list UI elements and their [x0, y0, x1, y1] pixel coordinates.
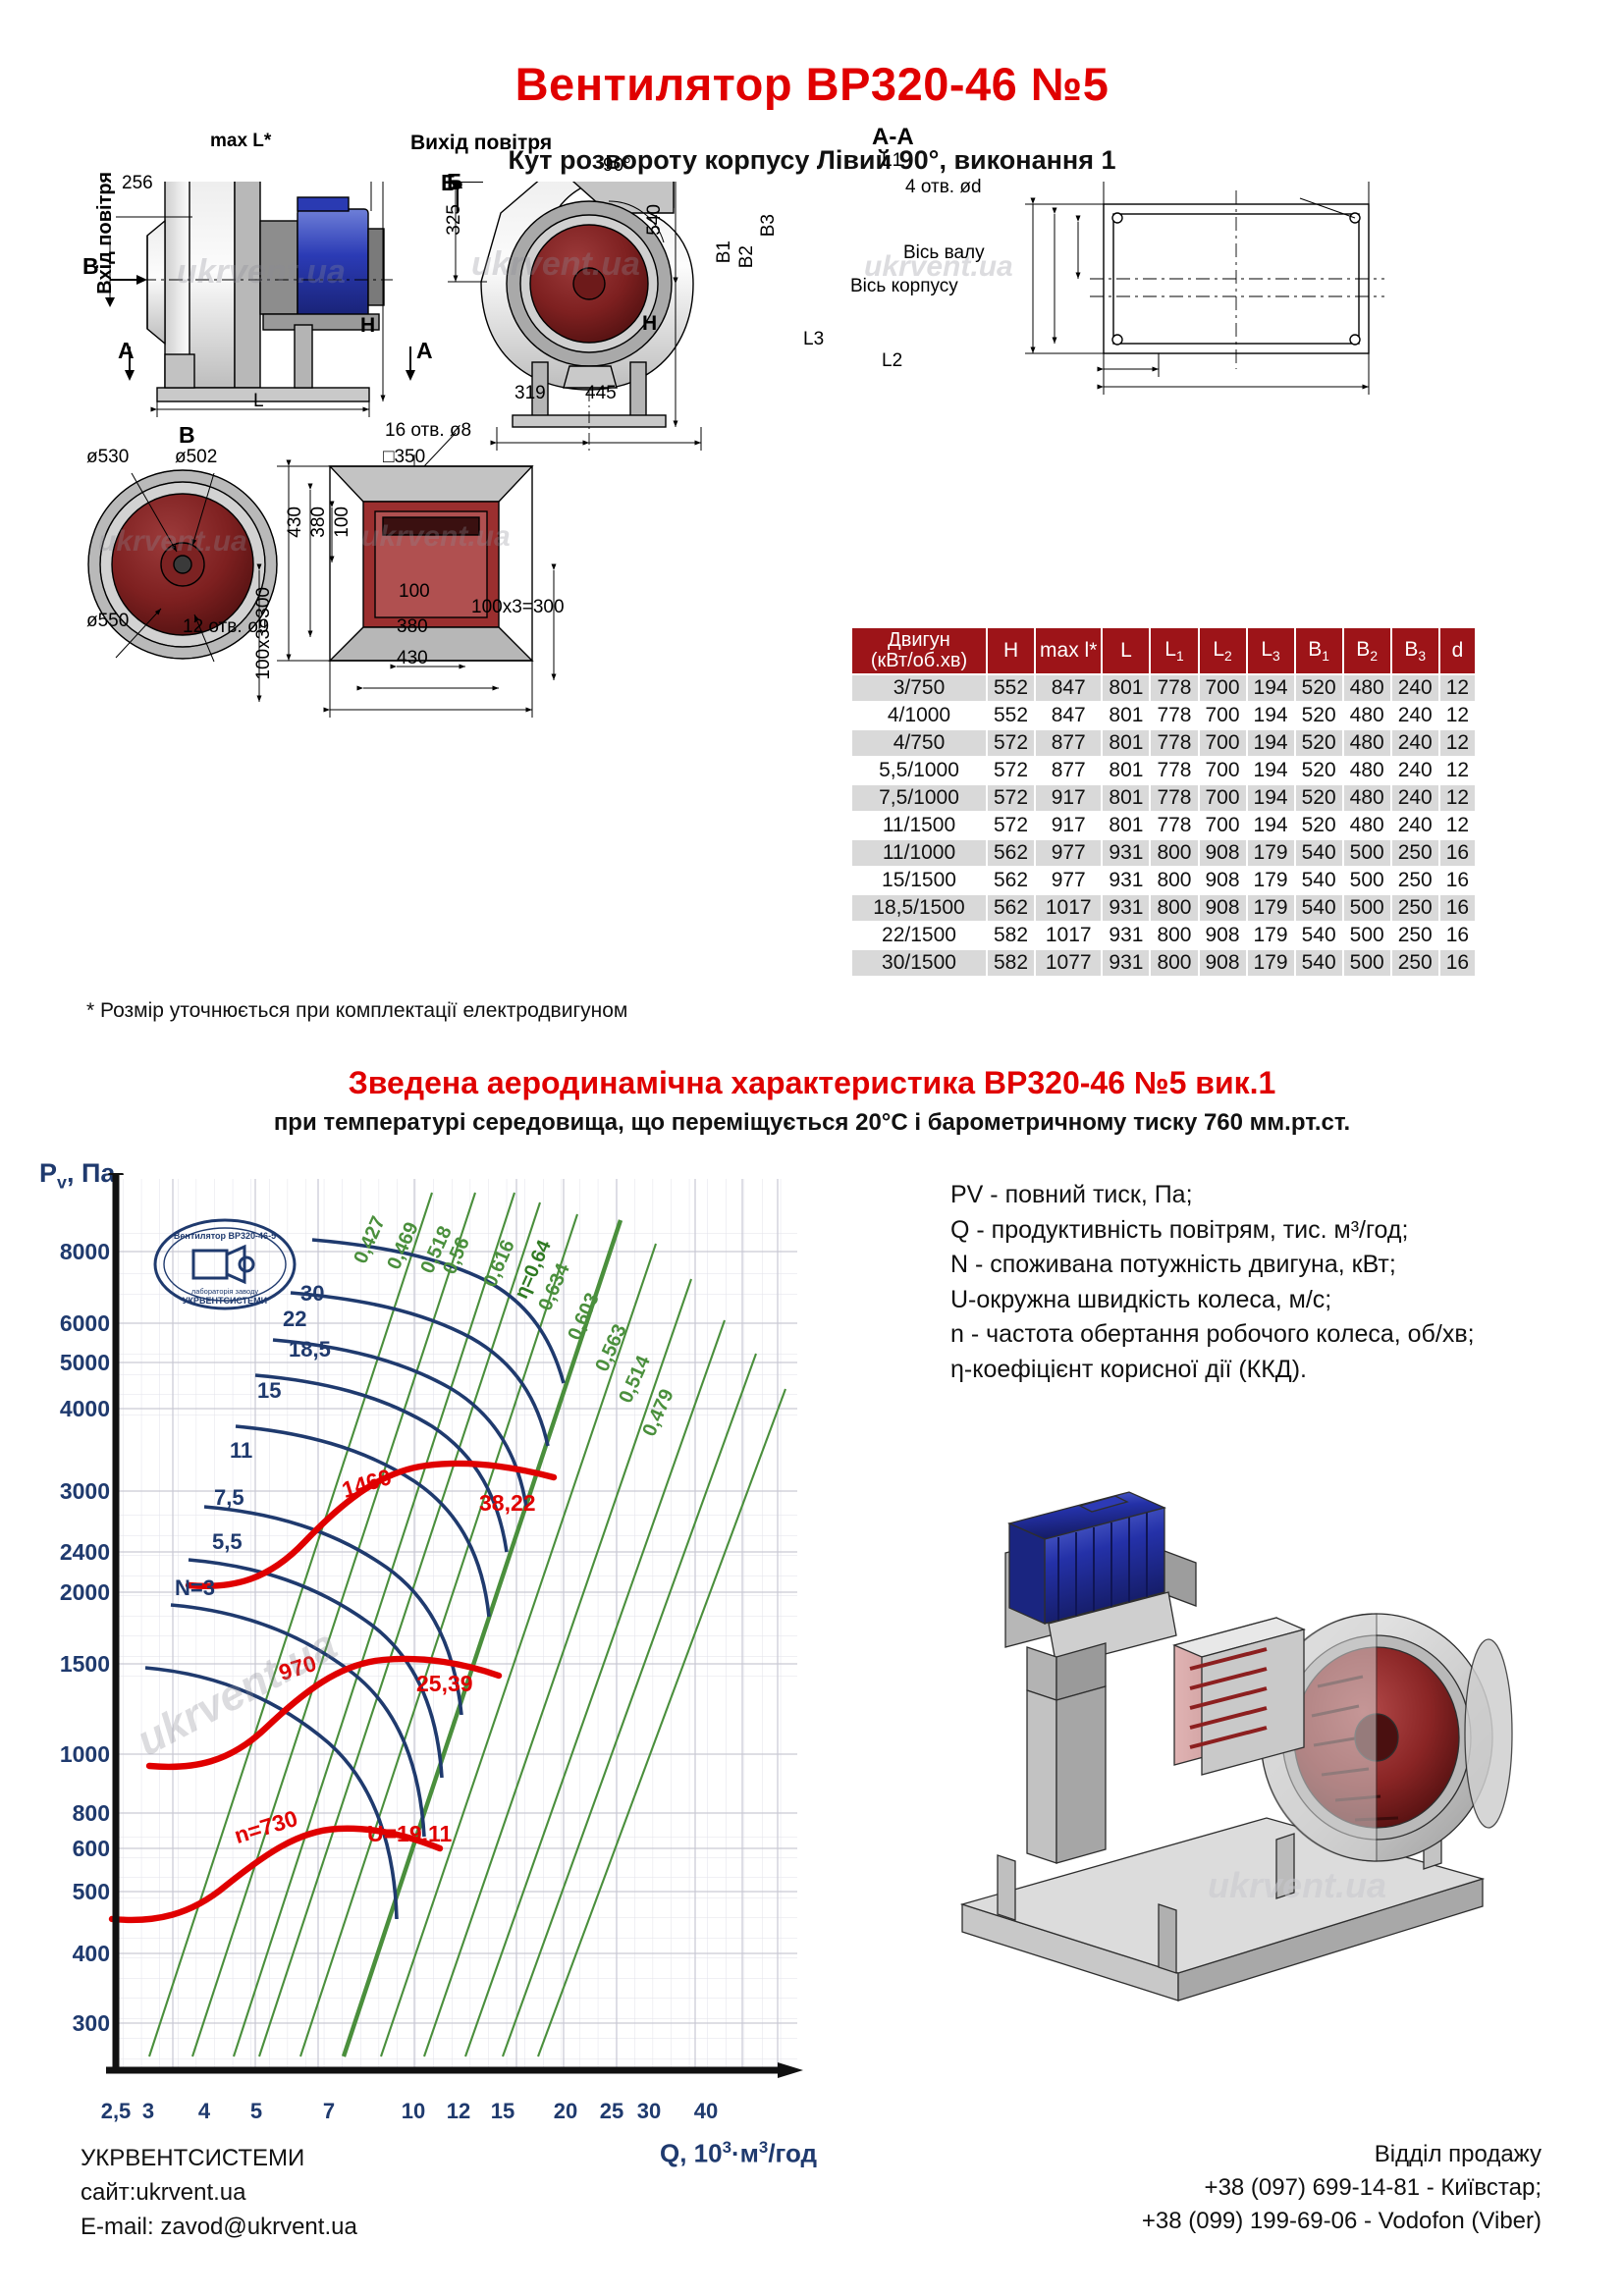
cell-value: 778 — [1150, 812, 1198, 839]
cell-value: 800 — [1150, 839, 1198, 867]
cell-motor: 4/750 — [851, 729, 987, 757]
dim-100-v: 100 — [332, 507, 353, 538]
ytick-600: 600 — [16, 1836, 110, 1862]
cell-value: 800 — [1150, 922, 1198, 949]
cell-value: 12 — [1439, 702, 1476, 729]
cell-value: 908 — [1199, 922, 1247, 949]
dim-angle-90: 90° — [603, 155, 631, 177]
power-label-11: 15 — [257, 1378, 281, 1404]
legend-line-u: U-окружна швидкість колеса, м/с; — [950, 1283, 1475, 1318]
power-label-4: 5,5 — [212, 1529, 243, 1555]
cell-value: 480 — [1343, 812, 1391, 839]
cell-value: 977 — [1035, 839, 1102, 867]
dim-l2: L2 — [882, 350, 902, 372]
sales-phone-2[interactable]: +38 (099) 199-69-06 - Vodofon (Viber) — [1142, 2205, 1542, 2238]
cell-value: 1077 — [1035, 949, 1102, 977]
aerodynamic-chart — [86, 1173, 813, 2115]
cell-motor: 3/750 — [851, 674, 987, 702]
th-d: d — [1439, 627, 1476, 674]
dim-100x3-right: 100х3=300 — [471, 597, 565, 618]
cell-value: 540 — [1295, 839, 1343, 867]
cell-value: 800 — [1150, 949, 1198, 977]
cell-value: 801 — [1102, 757, 1150, 784]
cell-value: 240 — [1391, 812, 1439, 839]
xtick-10: 10 — [389, 2099, 438, 2124]
cell-value: 520 — [1295, 674, 1343, 702]
cell-value: 931 — [1102, 949, 1150, 977]
power-label-22: 30 — [300, 1281, 324, 1307]
table-row: 11/150057291780177870019452048024012 — [851, 812, 1476, 839]
dim-380-v: 380 — [308, 507, 330, 538]
table-row: 5,5/100057287780177870019452048024012 — [851, 757, 1476, 784]
dim-max-l: max L* — [210, 131, 271, 152]
footer-company: УКРВЕНТСИСТЕМИ — [81, 2142, 357, 2176]
cell-value: 778 — [1150, 757, 1198, 784]
dim-540: 540 — [644, 204, 666, 236]
table-row: 4/100055284780177870019452048024012 — [851, 702, 1476, 729]
svg-text:Вентилятор ВР320-46-5: Вентилятор ВР320-46-5 — [174, 1231, 276, 1241]
ytick-2400: 2400 — [16, 1539, 110, 1566]
cell-value: 12 — [1439, 784, 1476, 812]
chart-title: Зведена аеродинамічна характеристика ВР3… — [0, 1065, 1624, 1101]
cell-value: 540 — [1295, 867, 1343, 894]
cell-value: 572 — [987, 729, 1035, 757]
cell-value: 16 — [1439, 839, 1476, 867]
th-l3: L3 — [1247, 627, 1295, 674]
cell-value: 520 — [1295, 757, 1343, 784]
cell-value: 908 — [1199, 867, 1247, 894]
th-b1: B1 — [1295, 627, 1343, 674]
label-air-outlet: Вихід повітря — [410, 132, 552, 155]
label-body-axis: Вісь корпусу — [850, 276, 958, 297]
dim-holes-16: 16 отв. ø8 — [385, 420, 471, 442]
cell-value: 800 — [1150, 894, 1198, 922]
ytick-6000: 6000 — [16, 1310, 110, 1337]
cell-value: 552 — [987, 674, 1035, 702]
cell-value: 908 — [1199, 839, 1247, 867]
cell-motor: 5,5/1000 — [851, 757, 987, 784]
ytick-8000: 8000 — [16, 1239, 110, 1265]
cell-value: 12 — [1439, 757, 1476, 784]
ytick-4000: 4000 — [16, 1396, 110, 1422]
cell-motor: 30/1500 — [851, 949, 987, 977]
power-label-75: 11 — [230, 1438, 252, 1464]
cell-value: 700 — [1199, 812, 1247, 839]
legend-line-rpm: n - частота обертання робочого колеса, о… — [950, 1317, 1475, 1353]
cell-value: 572 — [987, 757, 1035, 784]
cell-value: 480 — [1343, 674, 1391, 702]
ytick-5000: 5000 — [16, 1350, 110, 1376]
product-3d-render — [933, 1443, 1581, 2052]
u-label-1911: U=19,11 — [367, 1821, 452, 1847]
dim-d530: ø530 — [86, 447, 129, 468]
th-l: L — [1102, 627, 1150, 674]
cell-value: 179 — [1247, 894, 1295, 922]
cell-value: 572 — [987, 784, 1035, 812]
cell-value: 540 — [1295, 949, 1343, 977]
cell-value: 801 — [1102, 674, 1150, 702]
dim-h-front: H — [360, 314, 375, 338]
cell-value: 194 — [1247, 784, 1295, 812]
cell-value: 250 — [1391, 949, 1439, 977]
ytick-1500: 1500 — [16, 1651, 110, 1678]
legend-line-q: Q - продуктивність повітрям, тис. м³/год… — [950, 1213, 1475, 1249]
cell-motor: 4/1000 — [851, 702, 987, 729]
cell-value: 240 — [1391, 702, 1439, 729]
th-l1: L1 — [1150, 627, 1198, 674]
footer-site[interactable]: сайт:ukrvent.ua — [81, 2176, 357, 2211]
cell-value: 250 — [1391, 839, 1439, 867]
cell-value: 16 — [1439, 949, 1476, 977]
cell-value: 931 — [1102, 922, 1150, 949]
cell-value: 847 — [1035, 702, 1102, 729]
ytick-500: 500 — [16, 1879, 110, 1905]
table-row: 30/1500582107793180090817954050025016 — [851, 949, 1476, 977]
footer-left: УКРВЕНТСИСТЕМИ сайт:ukrvent.ua E-mail: z… — [81, 2142, 357, 2244]
legend-line-n: N - споживана потужність двигуна, кВт; — [950, 1248, 1475, 1283]
cell-value: 480 — [1343, 729, 1391, 757]
label-shaft-axis: Вісь валу — [903, 242, 985, 264]
ytick-300: 300 — [16, 2010, 110, 2037]
cell-value: 778 — [1150, 729, 1198, 757]
cell-value: 179 — [1247, 922, 1295, 949]
cell-value: 194 — [1247, 702, 1295, 729]
cell-value: 778 — [1150, 674, 1198, 702]
u-label-2539: 25,39 — [416, 1671, 473, 1697]
dim-445: 445 — [585, 383, 617, 404]
label-b-mark-side: Б — [441, 170, 458, 196]
label-a-right: A — [416, 338, 433, 364]
dim-b3: B3 — [758, 214, 780, 237]
cell-value: 194 — [1247, 812, 1295, 839]
ytick-800: 800 — [16, 1800, 110, 1827]
cell-value: 520 — [1295, 729, 1343, 757]
power-label-55: 7,5 — [214, 1485, 244, 1511]
cell-value: 240 — [1391, 784, 1439, 812]
cell-value: 540 — [1295, 894, 1343, 922]
cell-value: 250 — [1391, 922, 1439, 949]
cell-value: 582 — [987, 949, 1035, 977]
table-row: 22/1500582101793180090817954050025016 — [851, 922, 1476, 949]
cell-value: 847 — [1035, 674, 1102, 702]
cell-value: 572 — [987, 812, 1035, 839]
cell-value: 877 — [1035, 729, 1102, 757]
cell-value: 700 — [1199, 729, 1247, 757]
cell-value: 194 — [1247, 674, 1295, 702]
xtick-40: 40 — [681, 2099, 731, 2124]
cell-value: 12 — [1439, 729, 1476, 757]
cell-value: 16 — [1439, 922, 1476, 949]
svg-text:УКРВЕНТСИСТЕМИ: УКРВЕНТСИСТЕМИ — [183, 1296, 267, 1306]
cell-value: 801 — [1102, 812, 1150, 839]
laboratory-stamp: Вентилятор ВР320-46-5 лабораторія заводу… — [152, 1217, 298, 1311]
table-row: 11/100056297793180090817954050025016 — [851, 839, 1476, 867]
table-row: 3/75055284780177870019452048024012 — [851, 674, 1476, 702]
cell-value: 700 — [1199, 674, 1247, 702]
cell-value: 877 — [1035, 757, 1102, 784]
cell-value: 552 — [987, 702, 1035, 729]
xtick-7: 7 — [304, 2099, 353, 2124]
cell-value: 908 — [1199, 949, 1247, 977]
footer-email[interactable]: E-mail: zavod@ukrvent.ua — [81, 2211, 357, 2245]
cell-value: 540 — [1295, 922, 1343, 949]
th-b2: B2 — [1343, 627, 1391, 674]
cell-value: 562 — [987, 839, 1035, 867]
cell-value: 778 — [1150, 784, 1198, 812]
xtick-12: 12 — [434, 2099, 483, 2124]
dim-holes-4: 4 отв. ød — [905, 177, 982, 198]
cell-value: 179 — [1247, 949, 1295, 977]
cell-value: 562 — [987, 894, 1035, 922]
cell-motor: 18,5/1500 — [851, 894, 987, 922]
table-row: 15/150056297793180090817954050025016 — [851, 867, 1476, 894]
power-label-15: 18,5 — [289, 1337, 331, 1362]
xtick-20: 20 — [541, 2099, 590, 2124]
cell-value: 917 — [1035, 812, 1102, 839]
cell-value: 500 — [1343, 839, 1391, 867]
cell-value: 917 — [1035, 784, 1102, 812]
chart-legend: PV - повний тиск, Па; Q - продуктивність… — [950, 1178, 1475, 1387]
dim-b1: B1 — [714, 240, 735, 263]
cell-value: 562 — [987, 867, 1035, 894]
label-a-left: A — [118, 338, 135, 364]
cell-motor: 15/1500 — [851, 867, 987, 894]
cell-value: 931 — [1102, 894, 1150, 922]
th-h: H — [987, 627, 1035, 674]
cell-value: 582 — [987, 922, 1035, 949]
cell-motor: 11/1000 — [851, 839, 987, 867]
cell-value: 801 — [1102, 729, 1150, 757]
legend-line-pv: PV - повний тиск, Па; — [950, 1178, 1475, 1213]
dim-430-v: 430 — [285, 507, 306, 538]
cell-value: 480 — [1343, 784, 1391, 812]
dim-100x3-left: 100х3=300 — [253, 587, 275, 680]
cell-value: 977 — [1035, 867, 1102, 894]
cell-value: 778 — [1150, 702, 1198, 729]
label-view-b: В — [179, 422, 195, 449]
cell-value: 931 — [1102, 867, 1150, 894]
chart-subtitle: при температурі середовища, що переміщує… — [0, 1109, 1624, 1137]
th-motor: Двигун(кВт/об.хв) — [851, 627, 987, 674]
sales-phone-1[interactable]: +38 (097) 699-14-81 - Київстар; — [1142, 2171, 1542, 2205]
cell-value: 16 — [1439, 867, 1476, 894]
cell-value: 500 — [1343, 867, 1391, 894]
cell-value: 700 — [1199, 784, 1247, 812]
page-title: Вентилятор ВР320-46 №5 — [0, 57, 1624, 111]
th-l2: L2 — [1199, 627, 1247, 674]
table-row: 4/75057287780177870019452048024012 — [851, 729, 1476, 757]
cell-value: 250 — [1391, 867, 1439, 894]
xtick-30: 30 — [624, 2099, 674, 2124]
cell-value: 500 — [1343, 922, 1391, 949]
cell-motor: 11/1500 — [851, 812, 987, 839]
cell-value: 908 — [1199, 894, 1247, 922]
table-header-row: Двигун(кВт/об.хв) H max l* L L1 L2 L3 B1… — [851, 627, 1476, 674]
cell-value: 500 — [1343, 949, 1391, 977]
table-row: 18,5/1500562101793180090817954050025016 — [851, 894, 1476, 922]
cell-value: 700 — [1199, 757, 1247, 784]
cell-motor: 7,5/1000 — [851, 784, 987, 812]
cell-value: 194 — [1247, 729, 1295, 757]
cell-value: 12 — [1439, 674, 1476, 702]
th-b3: B3 — [1391, 627, 1439, 674]
cell-value: 520 — [1295, 812, 1343, 839]
dim-l3: L3 — [803, 329, 824, 350]
specification-table: Двигун(кВт/об.хв) H max l* L L1 L2 L3 B1… — [850, 626, 1477, 978]
xtick-5: 5 — [232, 2099, 281, 2124]
footer-right: Відділ продажу +38 (097) 699-14-81 - Киї… — [1142, 2138, 1542, 2238]
dim-430: 430 — [397, 648, 428, 669]
cell-value: 179 — [1247, 867, 1295, 894]
x-axis-title: Q, 103·м3/год — [660, 2138, 817, 2169]
label-section-aa: A-A — [872, 124, 914, 151]
dim-d502: ø502 — [175, 447, 217, 468]
table-row: 7,5/100057291780177870019452048024012 — [851, 784, 1476, 812]
cell-value: 480 — [1343, 757, 1391, 784]
cell-value: 931 — [1102, 839, 1150, 867]
cell-value: 240 — [1391, 674, 1439, 702]
dim-l1: L1 — [882, 150, 902, 172]
dim-100: 100 — [399, 581, 430, 603]
cell-value: 520 — [1295, 784, 1343, 812]
power-label-n3: N=3 — [175, 1575, 215, 1601]
ytick-400: 400 — [16, 1941, 110, 1967]
drawing-footnote: * Розмір уточнюється при комплектації ел… — [86, 999, 627, 1023]
dim-380: 380 — [397, 616, 428, 638]
u-label-3822: 38,22 — [479, 1490, 536, 1517]
dim-b2: B2 — [736, 245, 758, 268]
cell-value: 800 — [1150, 867, 1198, 894]
dim-319: 319 — [514, 383, 546, 404]
cell-value: 480 — [1343, 702, 1391, 729]
ytick-3000: 3000 — [16, 1478, 110, 1505]
ytick-1000: 1000 — [16, 1741, 110, 1768]
cell-value: 12 — [1439, 812, 1476, 839]
cell-value: 240 — [1391, 729, 1439, 757]
cell-value: 250 — [1391, 894, 1439, 922]
dim-325: 325 — [444, 204, 465, 236]
cell-value: 500 — [1343, 894, 1391, 922]
cell-motor: 22/1500 — [851, 922, 987, 949]
cell-value: 1017 — [1035, 922, 1102, 949]
sales-title: Відділ продажу — [1142, 2138, 1542, 2171]
cell-value: 801 — [1102, 784, 1150, 812]
cell-value: 801 — [1102, 702, 1150, 729]
xtick-3: 3 — [124, 2099, 173, 2124]
xtick-15: 15 — [478, 2099, 527, 2124]
label-b-view-arrow: В — [82, 253, 99, 280]
dim-256: 256 — [122, 173, 153, 194]
ytick-2000: 2000 — [16, 1579, 110, 1606]
cell-value: 700 — [1199, 702, 1247, 729]
cell-value: 520 — [1295, 702, 1343, 729]
dim-d550: ø550 — [86, 611, 129, 632]
legend-line-eta: η-коефіцієнт корисної дії (ККД). — [950, 1353, 1475, 1388]
svg-text:лабораторія заводу: лабораторія заводу — [191, 1287, 259, 1296]
xtick-4: 4 — [180, 2099, 229, 2124]
dim-sq350: □350 — [383, 447, 425, 468]
cell-value: 179 — [1247, 839, 1295, 867]
dim-l-front: L — [253, 391, 264, 412]
cell-value: 16 — [1439, 894, 1476, 922]
cell-value: 240 — [1391, 757, 1439, 784]
cell-value: 1017 — [1035, 894, 1102, 922]
dim-h-side: H — [642, 312, 657, 336]
th-maxl: max l* — [1035, 627, 1102, 674]
cell-value: 194 — [1247, 757, 1295, 784]
